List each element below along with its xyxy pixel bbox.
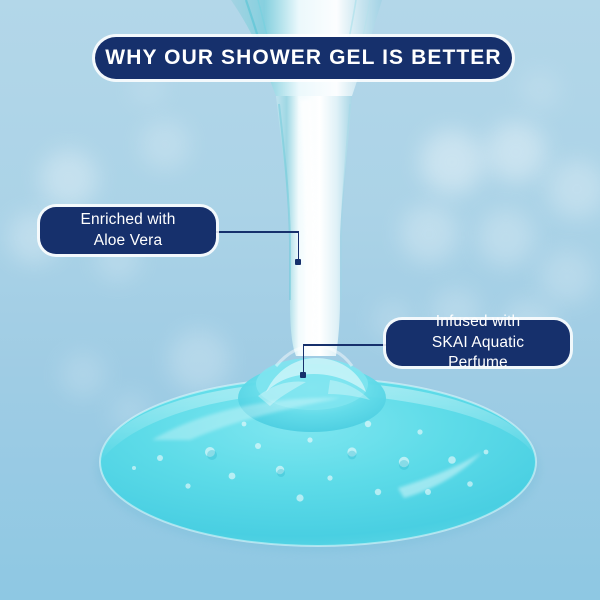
headline-banner: WHY OUR SHOWER GEL IS BETTER [95,37,512,79]
annotation-skai-perfume: Infused with SKAI Aquatic Perfume [386,320,570,366]
product-feature-graphic: WHY OUR SHOWER GEL IS BETTER Enriched wi… [0,0,600,600]
gel-pour-illustration [0,0,600,600]
annotation-perfume-text: Infused with SKAI Aquatic Perfume [400,312,556,374]
annotation-aloe-text: Enriched with Aloe Vera [81,210,176,251]
annotation-aloe-line1: Enriched with [81,210,176,231]
annotation-aloe-vera: Enriched with Aloe Vera [40,207,216,254]
annotation-aloe-line2: Aloe Vera [81,231,176,252]
annotation-perfume-line1: Infused with [400,312,556,333]
annotation-perfume-line2: SKAI Aquatic Perfume [400,333,556,374]
headline-text: WHY OUR SHOWER GEL IS BETTER [105,46,501,70]
